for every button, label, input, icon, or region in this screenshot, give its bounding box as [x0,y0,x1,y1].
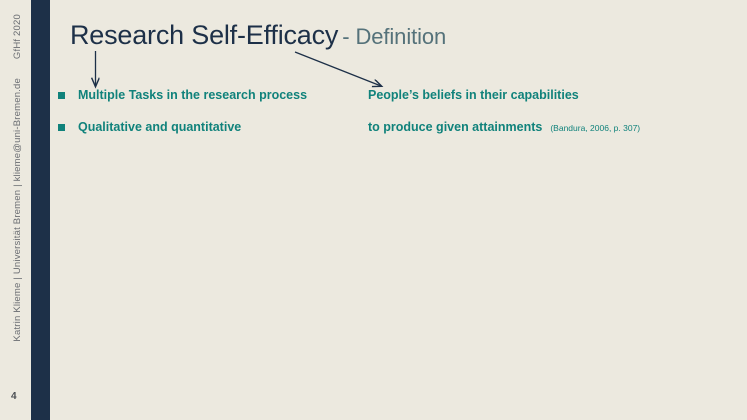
slide: GfHf 2020 Katrin Klieme | Universität Br… [0,0,747,420]
list-item: Multiple Tasks in the research process [58,88,368,104]
page-number: 4 [11,391,17,402]
page-title-main: Research Self-Efficacy [70,20,338,50]
definition-line-1: People’s beliefs in their capabilities [368,88,743,104]
square-bullet-icon [58,92,65,99]
definition-line-2: to produce given attainments (Bandura, 2… [368,120,743,136]
square-bullet-icon [58,124,65,131]
slide-content: Research Self-Efficacy- Definition Multi… [50,0,747,420]
arrow-overlay [50,0,747,420]
definition-citation: (Bandura, 2006, p. 307) [550,123,640,133]
page-title: Research Self-Efficacy- Definition [70,20,446,51]
sidebar-author-label: Katrin Klieme | Universität Bremen | kli… [12,78,23,342]
arrow-diagonal-icon [295,52,381,86]
sidebar-text-group: GfHf 2020 Katrin Klieme | Universität Br… [0,0,31,420]
sidebar-conference-label: GfHf 2020 [12,14,23,59]
list-item-label: Multiple Tasks in the research process [78,88,307,103]
left-column: Multiple Tasks in the research process Q… [58,88,368,152]
definition-line-1-label: People’s beliefs in their capabilities [368,88,579,103]
list-item: Qualitative and quantitative [58,120,368,136]
right-column: People’s beliefs in their capabilities t… [368,88,743,152]
slide-sidebar: GfHf 2020 Katrin Klieme | Universität Br… [0,0,50,420]
page-title-subtitle: - Definition [342,24,446,49]
definition-line-2-label: to produce given attainments [368,120,542,135]
list-item-label: Qualitative and quantitative [78,120,241,135]
sidebar-accent-band [31,0,50,420]
